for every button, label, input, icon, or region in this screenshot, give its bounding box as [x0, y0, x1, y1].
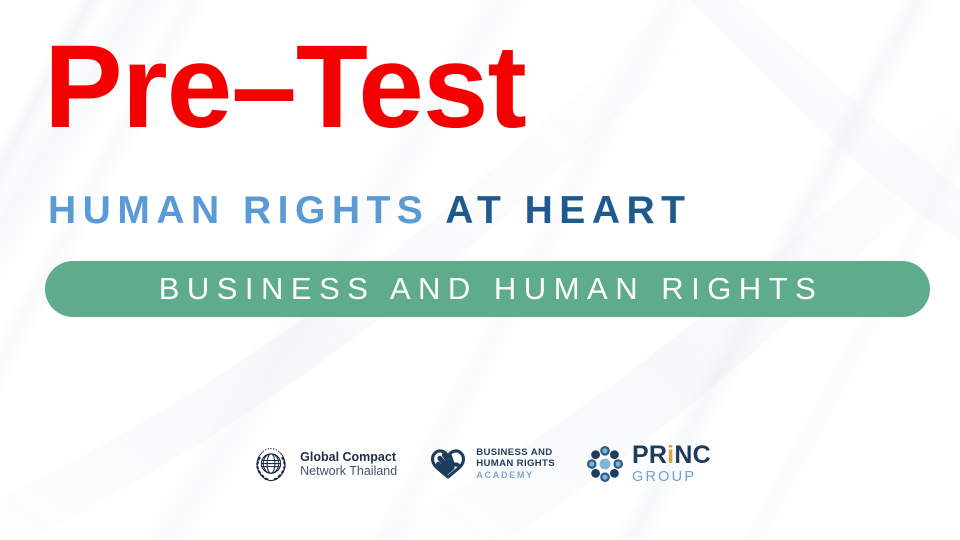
course-banner-label: BUSINESS AND HUMAN RIGHTS	[152, 271, 824, 307]
princ-flower-cluster-icon	[585, 444, 625, 484]
princ-subtitle: GROUP	[632, 470, 711, 485]
logo-global-compact-network-thailand: Global Compact Network Thailand	[249, 442, 397, 486]
bhra-line-1: BUSINESS AND	[476, 447, 555, 459]
subtitle: HUMAN RIGHTS AT HEART	[48, 191, 691, 230]
bhra-text-block: BUSINESS AND HUMAN RIGHTS ACADEMY	[476, 447, 555, 482]
bhra-line-2: HUMAN RIGHTS	[476, 458, 555, 470]
gcnt-text-block: Global Compact Network Thailand	[300, 450, 397, 479]
princ-word-post: NC	[674, 441, 711, 469]
slide-root: Pre–Test HUMAN RIGHTS AT HEART BUSINESS …	[0, 0, 960, 540]
princ-text-block: PRiNC GROUP	[632, 443, 711, 485]
subtitle-dark-part: AT HEART	[445, 189, 691, 232]
logo-strip: Global Compact Network Thailand BUSINESS…	[0, 436, 960, 492]
subtitle-light-part: HUMAN RIGHTS	[48, 189, 429, 232]
princ-wordmark: PRiNC	[632, 443, 711, 468]
gcnt-line-1: Global Compact	[300, 450, 397, 464]
bhra-line-3: ACADEMY	[476, 470, 555, 481]
page-title: Pre–Test	[44, 28, 526, 146]
un-global-compact-globe-laurel-emblem	[249, 442, 293, 486]
gcnt-line-2: Network Thailand	[300, 464, 397, 478]
heart-hand-icon	[427, 444, 469, 484]
course-banner: BUSINESS AND HUMAN RIGHTS	[45, 261, 930, 317]
princ-word-pre: PR	[632, 441, 667, 469]
logo-business-and-human-rights-academy: BUSINESS AND HUMAN RIGHTS ACADEMY	[427, 444, 555, 484]
logo-princ-group: PRiNC GROUP	[585, 443, 711, 485]
